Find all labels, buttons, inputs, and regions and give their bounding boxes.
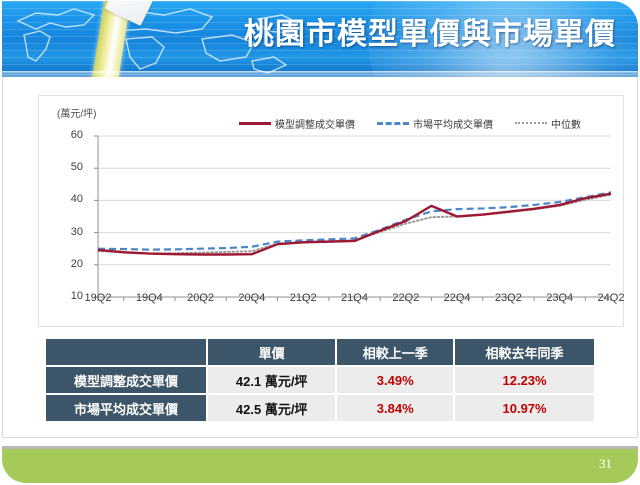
table-cell-model-qoq: 3.49% bbox=[337, 367, 453, 393]
x-axis-tick: 22Q2 bbox=[392, 292, 419, 304]
table-cell-model-unit-price: 42.1 萬元/坪 bbox=[208, 367, 335, 393]
table-cell-model-yoy: 12.23% bbox=[455, 367, 594, 393]
x-axis-tick: 21Q4 bbox=[341, 292, 368, 304]
x-axis-tick: 23Q4 bbox=[546, 292, 573, 304]
y-axis-tick: 30 bbox=[55, 226, 83, 238]
y-axis-tick: 60 bbox=[55, 129, 83, 141]
chart-panel: (萬元/坪) 模型調整成交單價 市場平均成交單價 中位數 10203040506… bbox=[38, 95, 624, 327]
x-axis-tick: 23Q2 bbox=[495, 292, 522, 304]
slide: 桃園市模型單價與市場單價 (萬元/坪) 模型調整成交單價 市場平均成交單價 中位… bbox=[0, 0, 640, 485]
table-header-unit-price: 單價 bbox=[208, 339, 335, 365]
page-title: 桃園市模型單價與市場單價 bbox=[244, 9, 616, 53]
x-axis-tick: 19Q2 bbox=[85, 292, 112, 304]
chart-plot-area: 102030405060 19Q219Q420Q220Q421Q221Q422Q… bbox=[39, 96, 625, 328]
x-axis-tick-labels: 19Q219Q420Q220Q421Q221Q422Q222Q423Q223Q4… bbox=[39, 292, 625, 312]
table-row-label-model: 模型調整成交單價 bbox=[46, 367, 206, 393]
table-cell-market-unit-price: 42.5 萬元/坪 bbox=[208, 395, 335, 421]
table-row: 模型調整成交單價 42.1 萬元/坪 3.49% 12.23% bbox=[46, 367, 594, 393]
x-axis-tick: 24Q2 bbox=[598, 292, 625, 304]
table-cell-market-yoy: 10.97% bbox=[455, 395, 594, 421]
x-axis-tick: 21Q2 bbox=[290, 292, 317, 304]
table-header-qoq: 相較上一季 bbox=[337, 339, 453, 365]
header-underline bbox=[2, 71, 638, 75]
table-row: 市場平均成交單價 42.5 萬元/坪 3.84% 10.97% bbox=[46, 395, 594, 421]
x-axis-tick: 20Q4 bbox=[238, 292, 265, 304]
page-number: 31 bbox=[599, 456, 612, 472]
x-axis-tick: 19Q4 bbox=[136, 292, 163, 304]
table-header-row: 單價 相較上一季 相較去年同季 bbox=[46, 339, 594, 365]
x-axis-tick: 20Q2 bbox=[187, 292, 214, 304]
table-header-yoy: 相較去年同季 bbox=[455, 339, 594, 365]
table-cell-market-qoq: 3.84% bbox=[337, 395, 453, 421]
y-axis-tick: 40 bbox=[55, 193, 83, 205]
slide-footer-band: 31 bbox=[2, 449, 638, 483]
x-axis-tick: 22Q4 bbox=[444, 292, 471, 304]
y-axis-tick: 20 bbox=[55, 258, 83, 270]
y-axis-tick: 50 bbox=[55, 161, 83, 173]
slide-header-banner: 桃園市模型單價與市場單價 bbox=[2, 1, 638, 77]
table-header-blank bbox=[46, 339, 206, 365]
summary-table: 單價 相較上一季 相較去年同季 模型調整成交單價 42.1 萬元/坪 3.49%… bbox=[44, 337, 596, 423]
table-row-label-market: 市場平均成交單價 bbox=[46, 395, 206, 421]
